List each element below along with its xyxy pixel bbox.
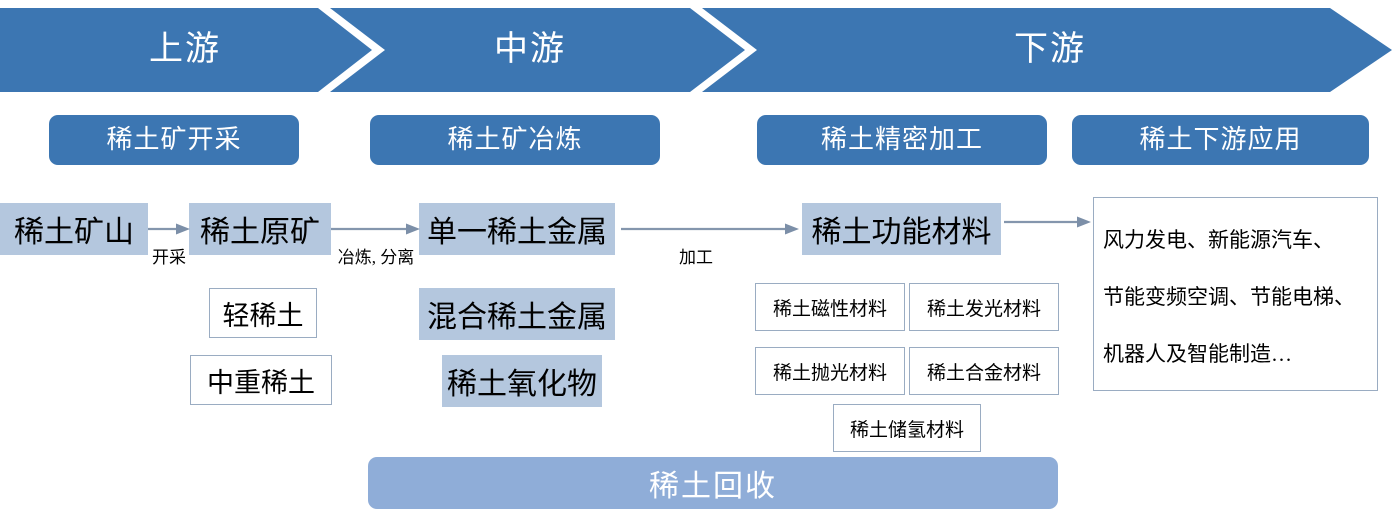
arrow-caption-smelting: 冶炼, 分离 [322, 243, 430, 268]
node-mixed-rare-earth-metal[interactable]: 混合稀土金属 [419, 288, 615, 340]
node-light-rare-earth[interactable]: 轻稀土 [209, 288, 317, 338]
application-line-3: 机器人及智能制造… [1103, 326, 1368, 383]
stage-pill-smelting[interactable]: 稀土矿冶炼 [370, 115, 660, 165]
node-magnetic-material[interactable]: 稀土磁性材料 [755, 283, 905, 331]
node-rare-earth-mine[interactable]: 稀土矿山 [0, 203, 148, 255]
arrow-mine-to-ore [148, 222, 190, 236]
banner-label-downstream: 下游 [860, 0, 1240, 100]
arrow-caption-processing: 加工 [672, 243, 720, 268]
arrow-functional-material-to-applications [1004, 215, 1091, 229]
node-hydrogen-storage-material[interactable]: 稀土储氢材料 [833, 404, 981, 452]
stage-pill-mining[interactable]: 稀土矿开采 [49, 115, 299, 165]
banner-label-midstream: 中游 [430, 0, 630, 100]
arrow-metal-to-functional-material [621, 222, 799, 236]
banner-label-upstream: 上游 [60, 0, 310, 100]
application-line-2: 节能变频空调、节能电梯、 [1103, 269, 1368, 326]
node-rare-earth-oxide[interactable]: 稀土氧化物 [442, 355, 602, 407]
node-medium-heavy-rare-earth[interactable]: 中重稀土 [190, 355, 332, 405]
node-polishing-material[interactable]: 稀土抛光材料 [755, 347, 905, 395]
node-functional-material[interactable]: 稀土功能材料 [802, 203, 1001, 255]
application-line-1: 风力发电、新能源汽车、 [1103, 212, 1368, 269]
node-applications-list[interactable]: 风力发电、新能源汽车、 节能变频空调、节能电梯、 机器人及智能制造… [1093, 197, 1378, 391]
stage-pill-precision[interactable]: 稀土精密加工 [757, 115, 1047, 165]
arrow-ore-to-single-metal [331, 222, 420, 236]
node-alloy-material[interactable]: 稀土合金材料 [909, 347, 1059, 395]
value-chain-banner: 上游 中游 下游 [0, 0, 1395, 100]
stage-pill-application[interactable]: 稀土下游应用 [1072, 115, 1369, 165]
recycling-bar[interactable]: 稀土回收 [368, 457, 1058, 509]
node-luminescent-material[interactable]: 稀土发光材料 [909, 283, 1059, 331]
node-single-rare-earth-metal[interactable]: 单一稀土金属 [419, 203, 615, 255]
rare-earth-industry-chain-diagram: 上游 中游 下游 稀土矿开采 稀土矿冶炼 稀土精密加工 稀土下游应用 稀土矿山 … [0, 0, 1395, 530]
arrow-caption-mining: 开采 [140, 243, 198, 268]
node-raw-ore[interactable]: 稀土原矿 [189, 203, 331, 255]
